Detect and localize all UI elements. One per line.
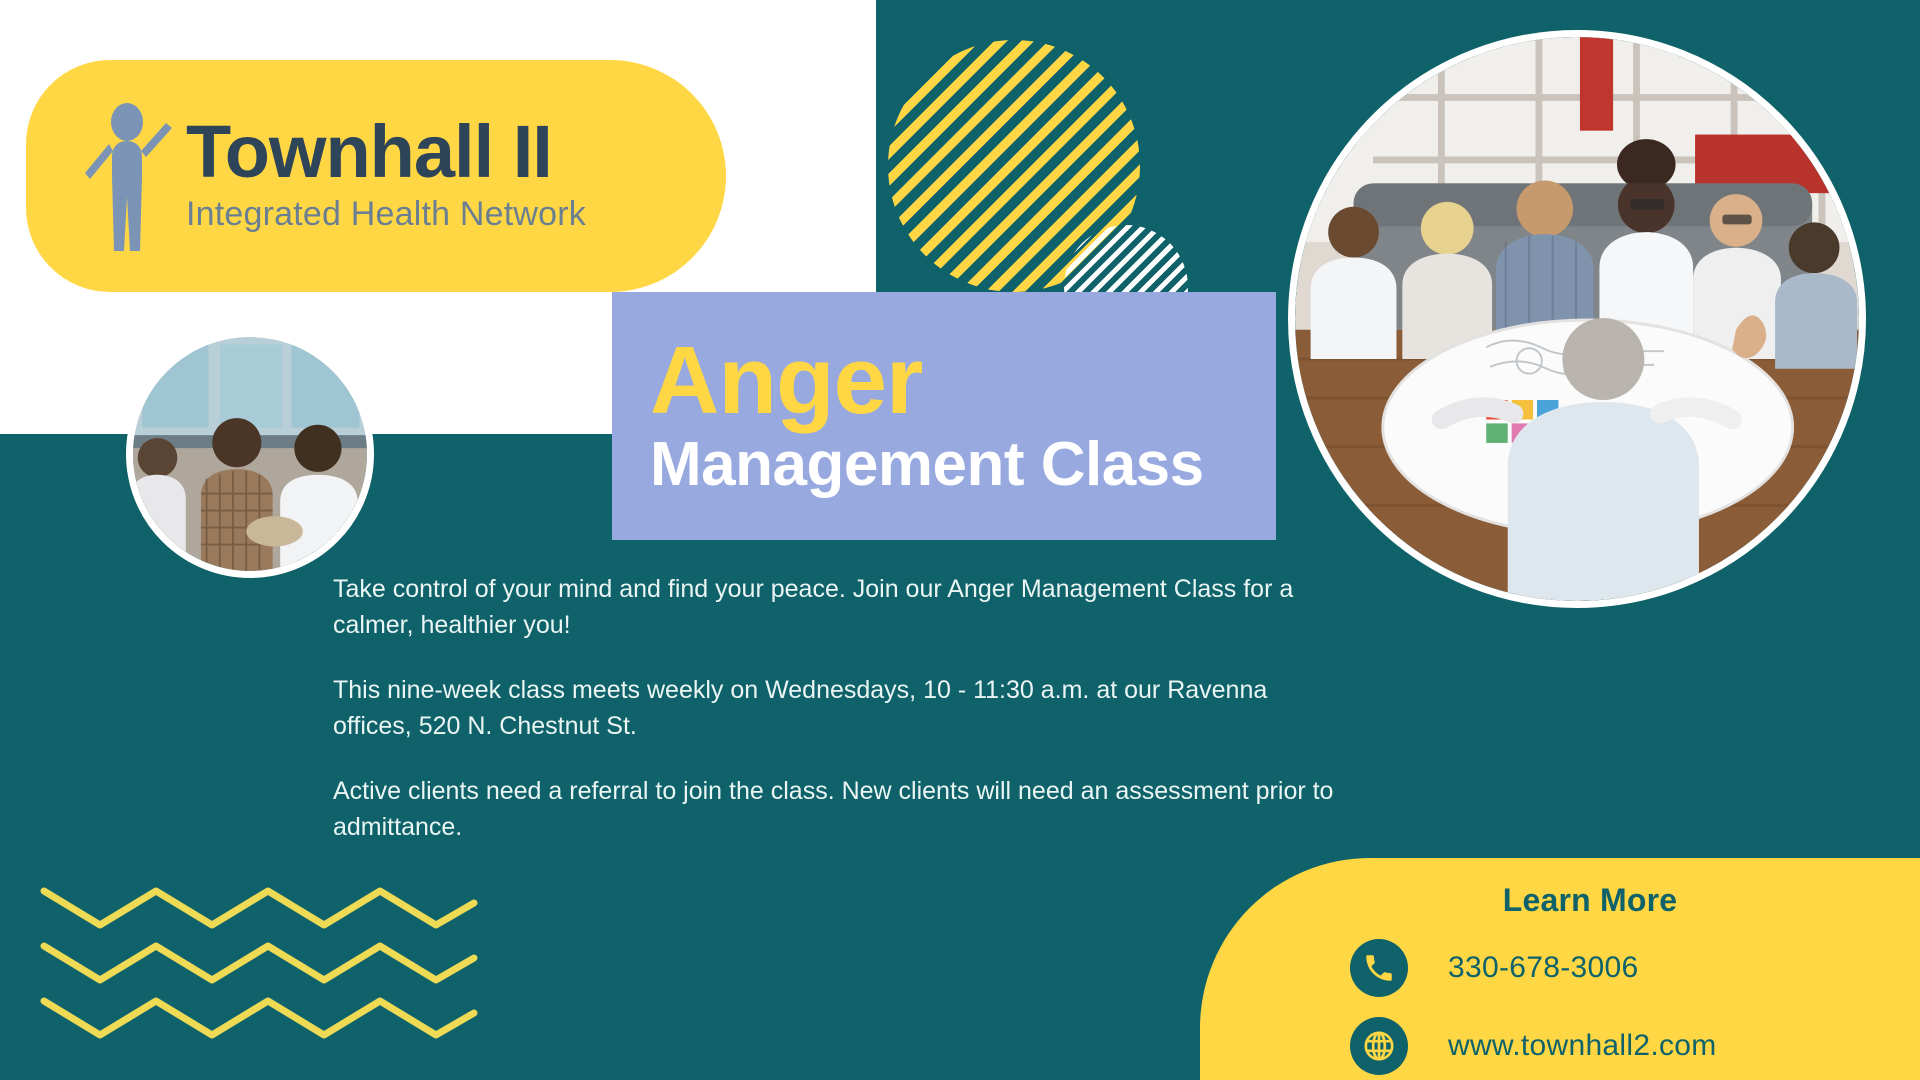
contact-row-phone[interactable]: 330-678-3006 (1350, 939, 1920, 997)
contact-heading: Learn More (1260, 882, 1920, 919)
globe-icon (1350, 1017, 1408, 1075)
contact-card: Learn More 330-678-3006 www.townhall2.co… (1200, 858, 1920, 1080)
body-paragraph-1: Take control of your mind and find your … (333, 572, 1343, 643)
zigzag-decoration-icon (40, 885, 490, 1045)
contact-row-website[interactable]: www.townhall2.com (1350, 1017, 1920, 1075)
group-meeting-photo (1288, 30, 1866, 608)
flyer-canvas: Townhall II Integrated Health Network (0, 0, 1920, 1080)
body-paragraph-3: Active clients need a referral to join t… (333, 774, 1343, 845)
title-line-1: Anger (650, 335, 1276, 427)
title-panel: Anger Management Class (612, 292, 1276, 540)
phone-icon (1350, 939, 1408, 997)
website-value: www.townhall2.com (1448, 1029, 1717, 1063)
logo-subtitle: Integrated Health Network (186, 193, 586, 236)
body-copy: Take control of your mind and find your … (333, 572, 1343, 845)
group-therapy-photo (126, 330, 374, 578)
logo-text-group: Townhall II Integrated Health Network (186, 117, 586, 236)
logo-badge: Townhall II Integrated Health Network (26, 60, 726, 292)
person-arms-raised-icon (84, 101, 176, 251)
logo-title: Townhall II (186, 117, 586, 187)
title-line-2: Management Class (650, 432, 1276, 497)
phone-value: 330-678-3006 (1448, 951, 1638, 985)
body-paragraph-2: This nine-week class meets weekly on Wed… (333, 673, 1343, 744)
